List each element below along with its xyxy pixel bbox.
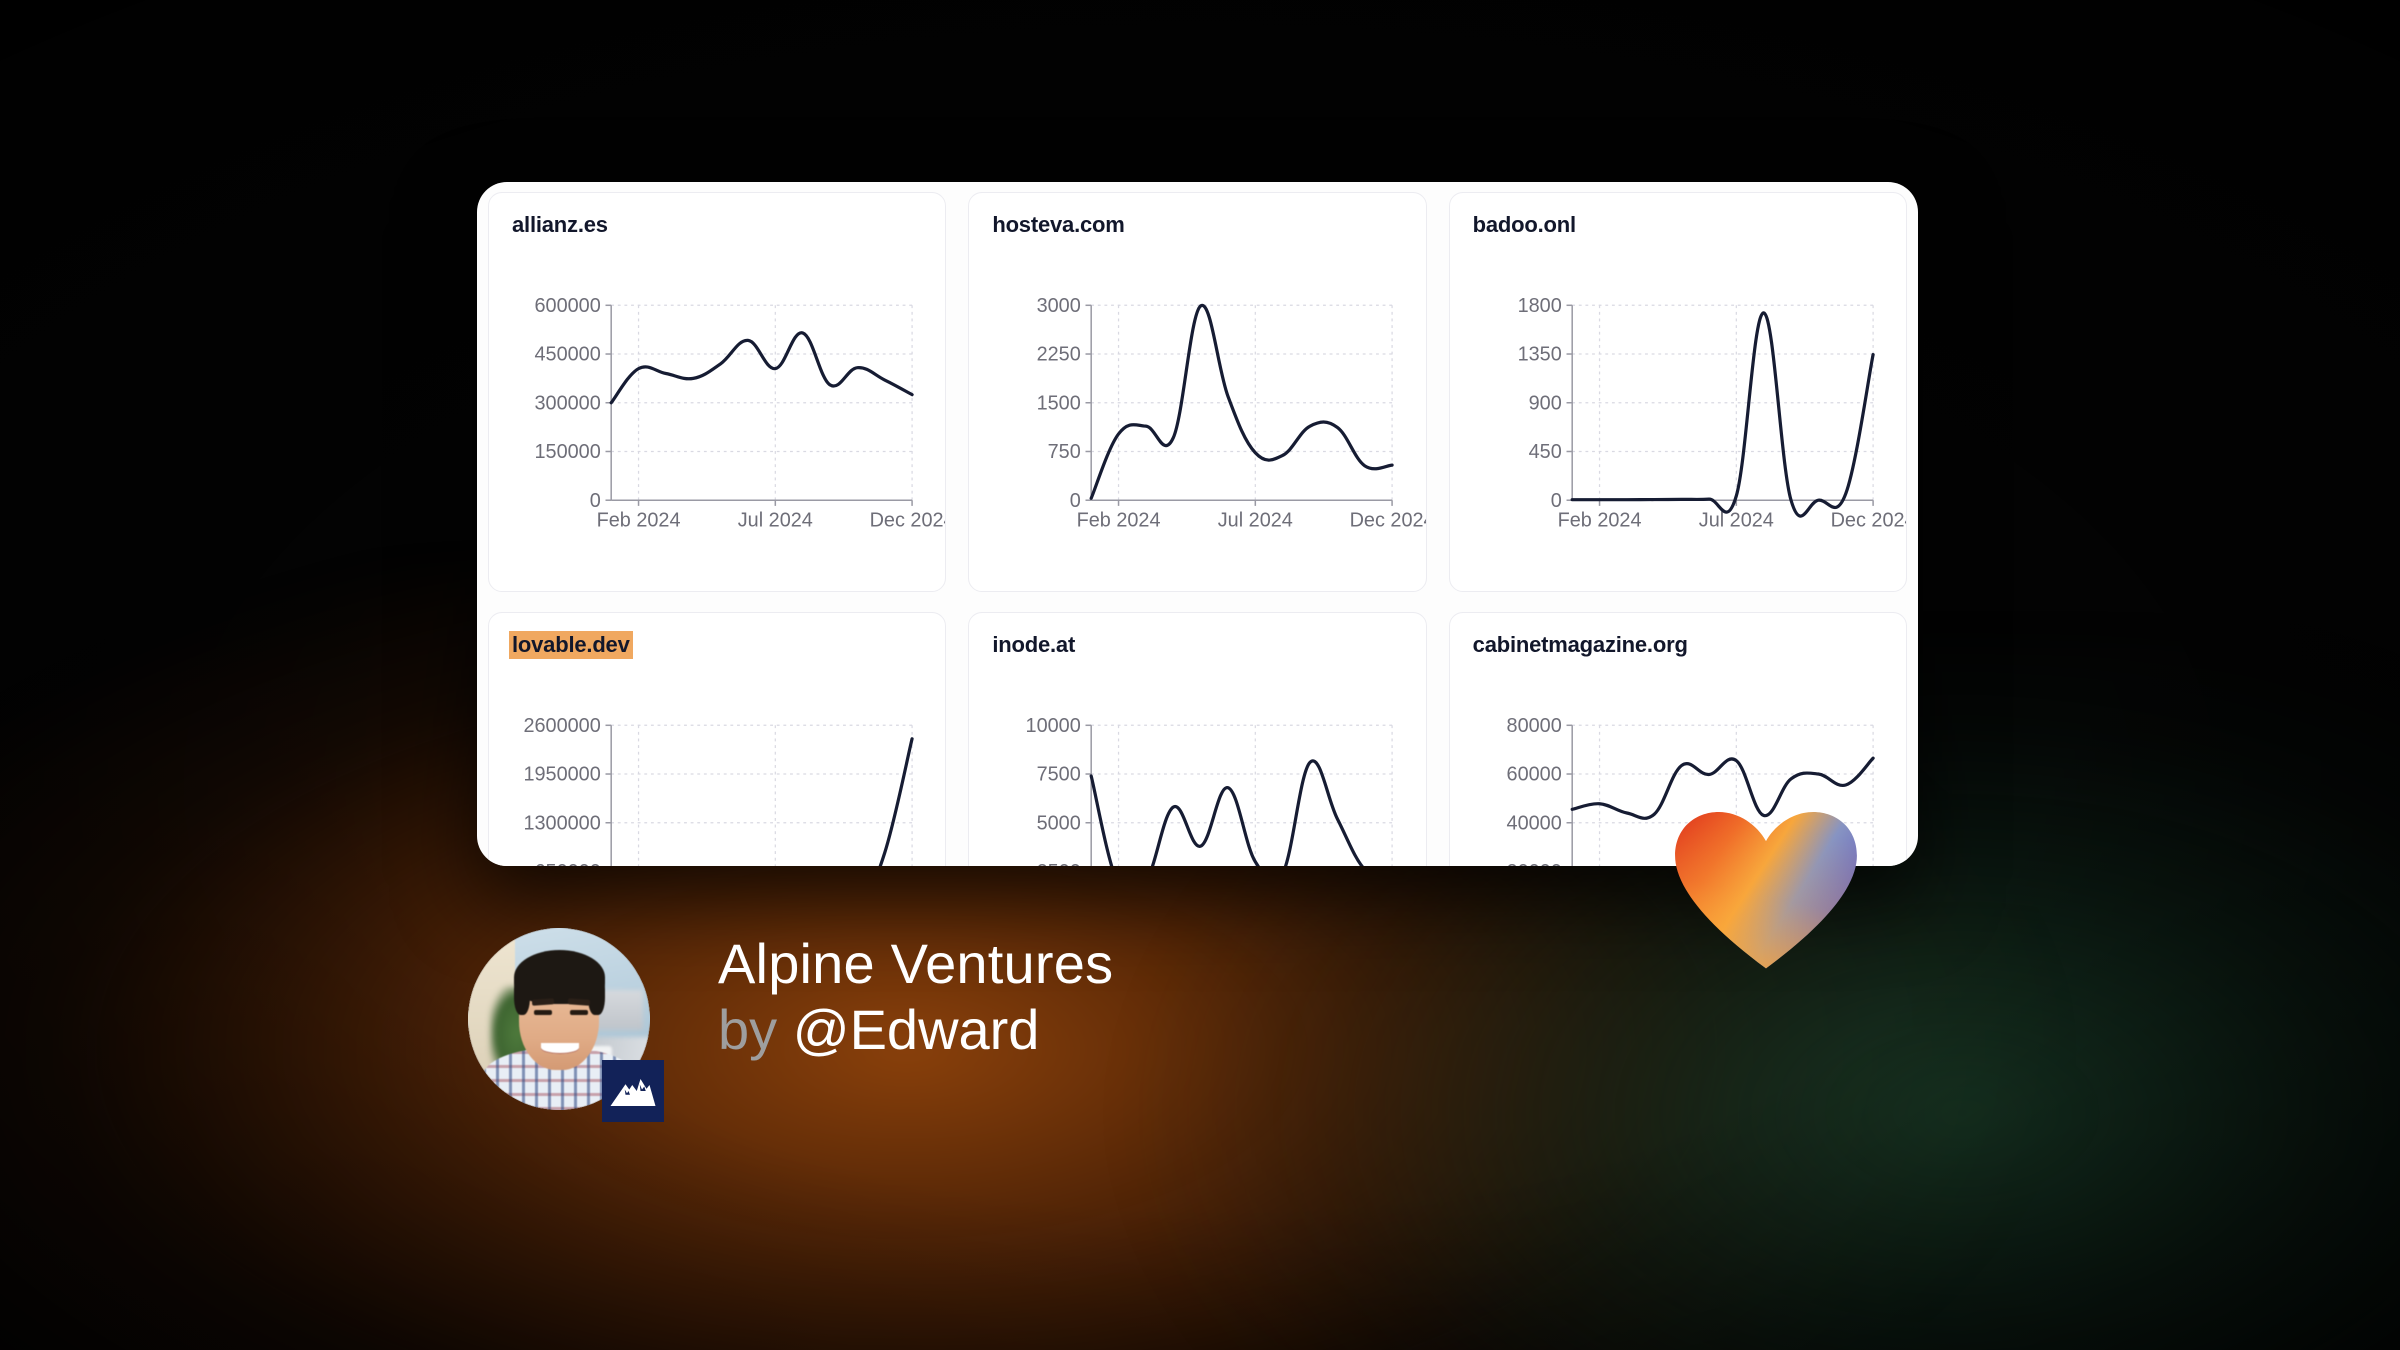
svg-text:40000: 40000 (1506, 812, 1561, 834)
svg-text:450000: 450000 (535, 344, 601, 366)
chart-title: badoo.onl (1470, 211, 1579, 239)
svg-text:20000: 20000 (1506, 861, 1561, 866)
chart-plot: 650000130000019500002600000Feb 2024Jul 2… (509, 671, 925, 866)
heart-icon (1671, 812, 1861, 972)
svg-text:Feb 2024: Feb 2024 (1077, 510, 1161, 532)
chart-title: lovable.dev (509, 631, 633, 659)
mountain-icon (609, 1074, 657, 1108)
avatar-wrapper (468, 928, 650, 1110)
svg-text:Jul 2024: Jul 2024 (738, 510, 813, 532)
svg-text:Dec 2024: Dec 2024 (870, 510, 947, 532)
svg-text:150000: 150000 (535, 441, 601, 463)
svg-text:300000: 300000 (535, 392, 601, 414)
svg-text:0: 0 (590, 490, 601, 512)
svg-text:60000: 60000 (1506, 764, 1561, 786)
svg-text:Feb 2024: Feb 2024 (597, 510, 681, 532)
chart-cell: lovable.dev650000130000019500002600000Fe… (477, 602, 957, 866)
svg-text:0: 0 (1550, 490, 1561, 512)
svg-text:1500: 1500 (1037, 392, 1081, 414)
footer: Alpine Ventures by @Edward (468, 928, 1113, 1110)
svg-text:2600000: 2600000 (523, 715, 600, 737)
svg-text:Dec 2024: Dec 2024 (1350, 510, 1427, 532)
by-label: by (718, 998, 777, 1061)
svg-text:2500: 2500 (1037, 861, 1081, 866)
brand-name: Alpine Ventures (718, 934, 1113, 993)
svg-text:Jul 2024: Jul 2024 (1218, 510, 1293, 532)
svg-text:10000: 10000 (1026, 715, 1081, 737)
chart-cell: hosteva.com0750150022503000Feb 2024Jul 2… (957, 182, 1437, 602)
svg-text:0: 0 (1070, 490, 1081, 512)
svg-text:1350: 1350 (1517, 344, 1561, 366)
svg-text:7500: 7500 (1037, 764, 1081, 786)
svg-text:Feb 2024: Feb 2024 (1557, 510, 1641, 532)
svg-text:1950000: 1950000 (523, 764, 600, 786)
chart-title: inode.at (989, 631, 1078, 659)
chart-cell: badoo.onl045090013501800Feb 2024Jul 2024… (1438, 182, 1918, 602)
chart-card[interactable]: inode.at25005000750010000Feb 2024Jul 202… (968, 612, 1426, 866)
svg-text:900: 900 (1528, 392, 1561, 414)
brand-byline: by @Edward (718, 999, 1113, 1062)
footer-text: Alpine Ventures by @Edward (718, 928, 1113, 1062)
chart-card[interactable]: allianz.es0150000300000450000600000Feb 2… (488, 192, 946, 592)
svg-text:750: 750 (1048, 441, 1081, 463)
svg-text:Dec 2024: Dec 2024 (1830, 510, 1907, 532)
svg-text:650000: 650000 (535, 861, 601, 866)
svg-text:2250: 2250 (1037, 344, 1081, 366)
chart-card[interactable]: hosteva.com0750150022503000Feb 2024Jul 2… (968, 192, 1426, 592)
charts-grid: allianz.es0150000300000450000600000Feb 2… (477, 182, 1918, 866)
chart-card[interactable]: badoo.onl045090013501800Feb 2024Jul 2024… (1449, 192, 1907, 592)
chart-cell: inode.at25005000750010000Feb 2024Jul 202… (957, 602, 1437, 866)
svg-text:3000: 3000 (1037, 295, 1081, 317)
chart-cell: allianz.es0150000300000450000600000Feb 2… (477, 182, 957, 602)
svg-text:1300000: 1300000 (523, 812, 600, 834)
charts-panel: allianz.es0150000300000450000600000Feb 2… (477, 182, 1918, 866)
chart-card[interactable]: lovable.dev650000130000019500002600000Fe… (488, 612, 946, 866)
chart-title: cabinetmagazine.org (1470, 631, 1691, 659)
svg-text:450: 450 (1528, 441, 1561, 463)
handle: @Edward (793, 998, 1040, 1061)
chart-plot: 25005000750010000Feb 2024Jul 2024Dec 202… (989, 671, 1405, 866)
svg-text:Jul 2024: Jul 2024 (1698, 510, 1773, 532)
svg-text:600000: 600000 (535, 295, 601, 317)
chart-plot: 0750150022503000Feb 2024Jul 2024Dec 2024 (989, 251, 1405, 581)
svg-text:80000: 80000 (1506, 715, 1561, 737)
chart-plot: 0150000300000450000600000Feb 2024Jul 202… (509, 251, 925, 581)
mountain-logo-badge (602, 1060, 664, 1122)
chart-title: allianz.es (509, 211, 611, 239)
svg-text:5000: 5000 (1037, 812, 1081, 834)
chart-title: hosteva.com (989, 211, 1127, 239)
chart-plot: 045090013501800Feb 2024Jul 2024Dec 2024 (1470, 251, 1886, 581)
svg-text:1800: 1800 (1517, 295, 1561, 317)
